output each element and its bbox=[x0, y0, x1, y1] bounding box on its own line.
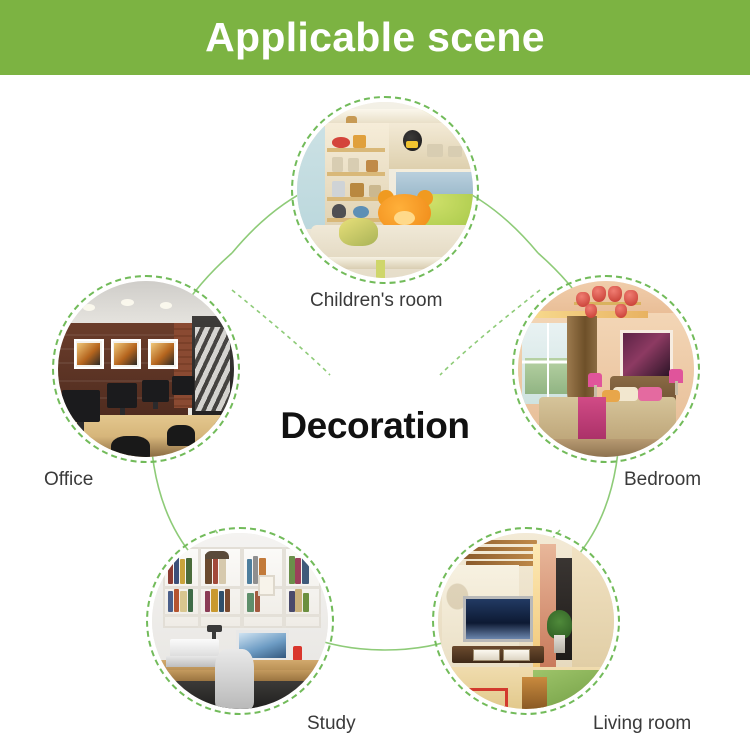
study-photo bbox=[152, 533, 328, 709]
node-label-study: Study bbox=[307, 713, 356, 735]
office-photo bbox=[58, 281, 234, 457]
node-living-room[interactable]: Living room bbox=[438, 533, 614, 709]
node-label-bedroom: Bedroom bbox=[624, 469, 701, 491]
node-label-children-room: Children's room bbox=[310, 290, 442, 312]
node-children-room[interactable]: Children's room bbox=[297, 102, 473, 278]
living-room-photo bbox=[438, 533, 614, 709]
node-office[interactable]: Office bbox=[58, 281, 234, 457]
node-study[interactable]: Study bbox=[152, 533, 328, 709]
bedroom-photo bbox=[518, 281, 694, 457]
page-title: Applicable scene bbox=[205, 17, 545, 58]
scene-diagram: Decoration bbox=[0, 75, 750, 750]
applicable-scene-infographic: Applicable scene Decorat bbox=[0, 0, 750, 750]
header-banner: Applicable scene bbox=[0, 0, 750, 75]
node-bedroom[interactable]: Bedroom bbox=[518, 281, 694, 457]
node-label-office: Office bbox=[44, 469, 93, 491]
children-room-photo bbox=[297, 102, 473, 278]
node-label-living-room: Living room bbox=[593, 713, 691, 735]
